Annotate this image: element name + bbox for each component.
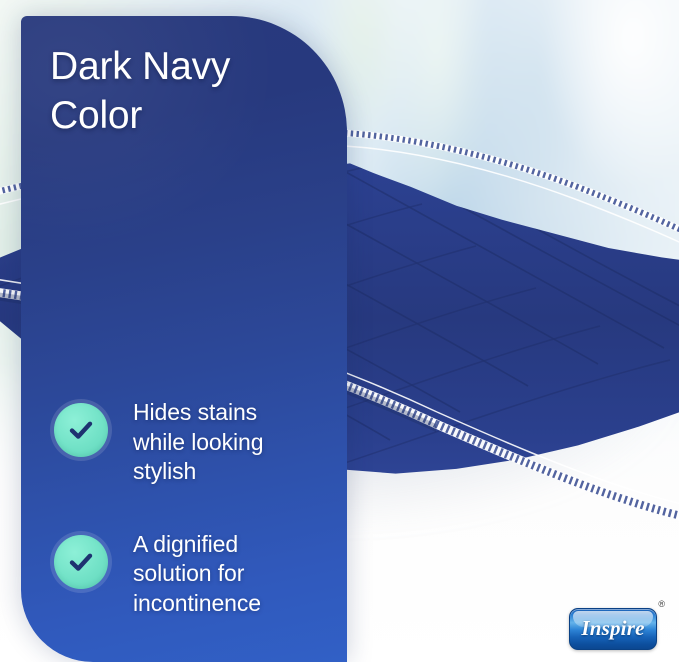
list-item: Hides stains while looking stylish <box>50 397 340 487</box>
info-panel: Dark Navy Color Hides stains while looki… <box>21 16 347 662</box>
list-item: A dignified solution for incontinence <box>50 529 340 619</box>
check-icon <box>54 535 108 589</box>
brand-name: Inspire <box>570 618 656 639</box>
registered-trademark-icon: ® <box>658 600 665 609</box>
check-icon <box>54 403 108 457</box>
benefit-text: Hides stains while looking stylish <box>133 397 263 487</box>
page-title: Dark Navy Color <box>50 42 330 140</box>
check-badge <box>50 399 112 461</box>
check-badge <box>50 531 112 593</box>
benefits-list: Hides stains while looking stylish A dig… <box>50 397 340 618</box>
benefit-text: A dignified solution for incontinence <box>133 529 261 619</box>
logo-plate: Inspire <box>569 608 657 650</box>
brand-logo: ® Inspire <box>569 600 665 652</box>
product-marketing-image: Dark Navy Color Hides stains while looki… <box>0 0 679 662</box>
